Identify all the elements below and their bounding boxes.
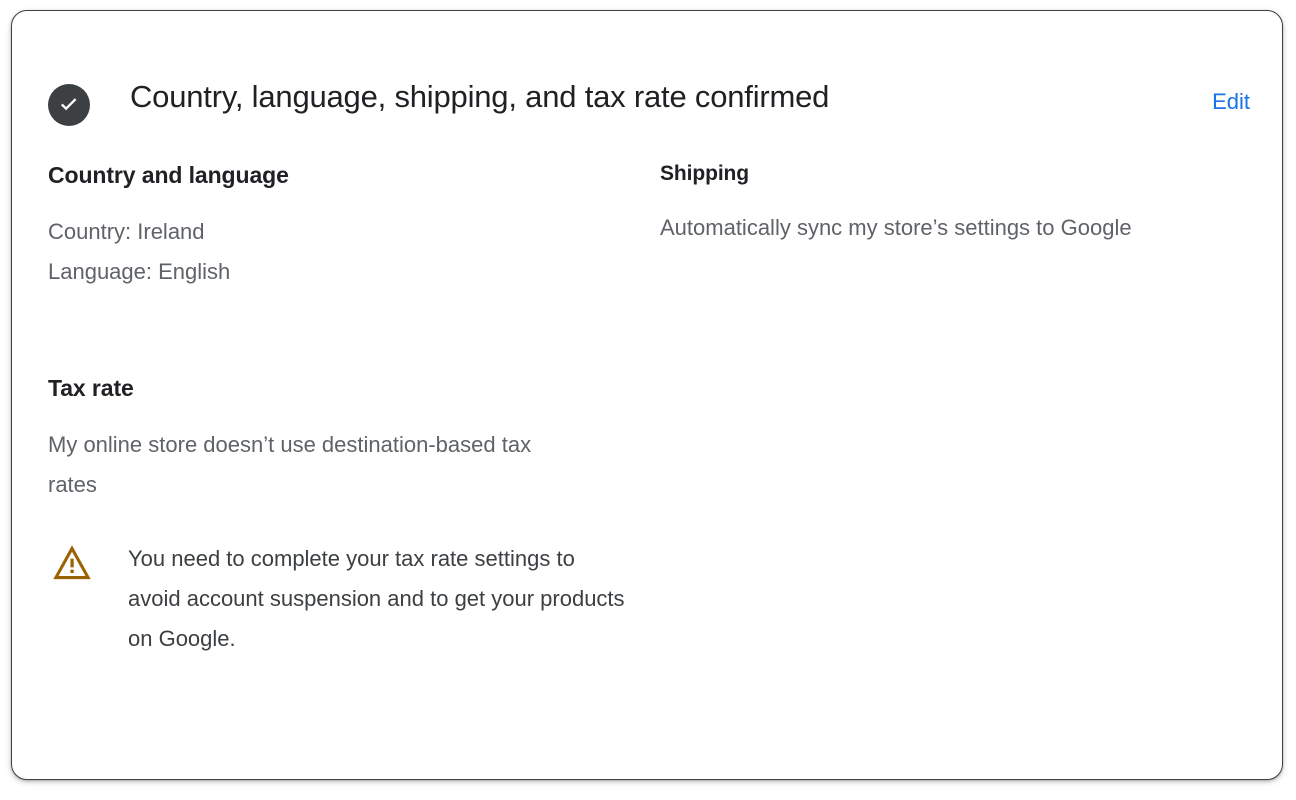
edit-link[interactable]: Edit [1212,89,1250,115]
check-circle-filled-icon [48,84,90,126]
shipping-heading: Shipping [660,161,1242,187]
shipping-body: Automatically sync my store’s settings t… [660,207,1205,248]
country-and-language-body: Country: Ireland Language: English [48,212,636,292]
country-value: Country: Ireland [48,212,636,252]
card-header: Country, language, shipping, and tax rat… [12,11,1282,161]
page-title: Country, language, shipping, and tax rat… [90,11,1212,117]
tax-rate-section: Tax rate My online store doesn’t use des… [48,374,636,659]
language-value: Language: English [48,252,636,292]
tax-rate-warning: You need to complete your tax rate setti… [48,539,636,659]
tax-rate-heading: Tax rate [48,374,636,403]
right-column: Shipping Automatically sync my store’s s… [636,161,1282,248]
card-body: Country and language Country: Ireland La… [12,161,1282,659]
country-and-language-section: Country and language Country: Ireland La… [48,161,636,292]
tax-rate-body: My online store doesn’t use destination-… [48,425,568,505]
country-and-language-heading: Country and language [48,161,636,190]
tax-rate-warning-message: You need to complete your tax rate setti… [94,539,628,659]
warning-triangle-icon [50,543,94,583]
left-column: Country and language Country: Ireland La… [12,161,636,659]
shipping-section: Shipping Automatically sync my store’s s… [660,161,1242,248]
confirmation-card: Country, language, shipping, and tax rat… [11,10,1283,780]
